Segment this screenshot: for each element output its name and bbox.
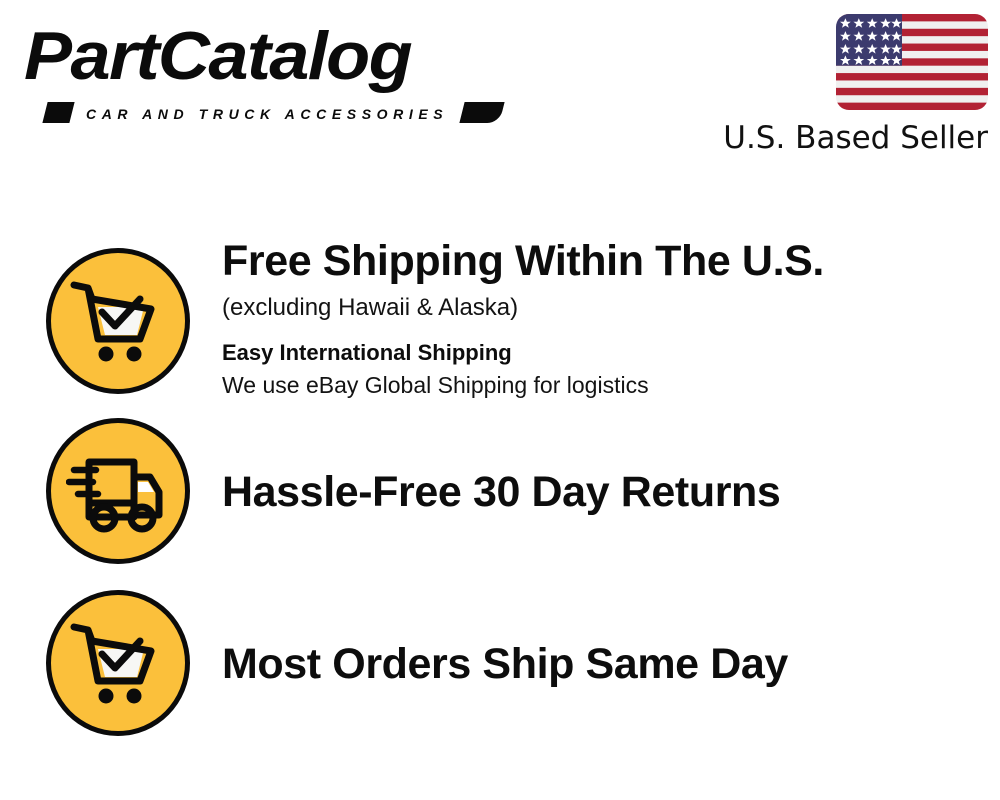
feature-title: Most Orders Ship Same Day <box>222 638 982 690</box>
logo-swash-right-icon <box>459 102 504 123</box>
delivery-truck-icon <box>46 418 190 564</box>
feature-title: Hassle-Free 30 Day Returns <box>222 466 982 518</box>
brand-tagline: CAR AND TRUCK ACCESSORIES <box>86 106 448 122</box>
feature-row: Free Shipping Within The U.S. (excluding… <box>0 248 1000 408</box>
feature-text-block: Hassle-Free 30 Day Returns <box>222 466 982 518</box>
us-flag-icon <box>836 14 988 110</box>
feature-secondary-subtitle: We use eBay Global Shipping for logistic… <box>222 369 982 401</box>
brand-wordmark: PartCatalog <box>24 20 411 92</box>
feature-title: Free Shipping Within The U.S. <box>222 235 982 287</box>
us-based-seller-label: U.S. Based Seller <box>720 119 988 157</box>
feature-secondary-title: Easy International Shipping <box>222 338 982 368</box>
feature-row: Most Orders Ship Same Day <box>0 590 1000 740</box>
feature-text-block: Most Orders Ship Same Day <box>222 638 982 690</box>
shopping-cart-check-icon <box>46 248 190 394</box>
shopping-cart-check-icon <box>46 590 190 736</box>
brand-logo[interactable]: PartCatalog CAR AND TRUCK ACCESSORIES <box>24 20 494 115</box>
page-header: PartCatalog CAR AND TRUCK ACCESSORIES <box>0 0 1000 175</box>
logo-swash-left-icon <box>42 102 74 123</box>
feature-row: Hassle-Free 30 Day Returns <box>0 418 1000 568</box>
feature-text-block: Free Shipping Within The U.S. (excluding… <box>222 235 982 401</box>
feature-subtitle: (excluding Hawaii & Alaska) <box>222 291 982 325</box>
